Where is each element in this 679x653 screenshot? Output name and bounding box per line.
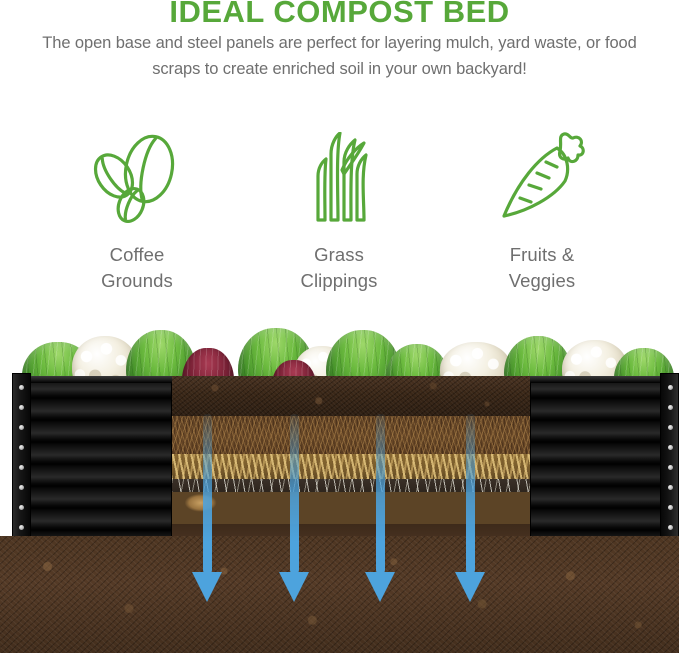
feature-coffee-grounds: Coffee Grounds [37, 128, 237, 294]
feature-label-line1: Fruits & [442, 242, 642, 268]
panel-top-edge [12, 376, 172, 383]
feature-label-line1: Grass [239, 242, 439, 268]
feature-icon-row: Coffee Grounds Grass Clippings [0, 128, 679, 303]
feature-label-fruits-veggies: Fruits & Veggies [442, 242, 642, 294]
arrow-head [192, 572, 222, 602]
arrow-head [279, 572, 309, 602]
grass-blades-icon [239, 128, 439, 228]
feature-grass-clippings: Grass Clippings [239, 128, 439, 294]
soil-layer-topsoil [172, 376, 530, 416]
feature-label-grass-clippings: Grass Clippings [239, 242, 439, 294]
screw-icon [668, 445, 673, 450]
arrow-head [455, 572, 485, 602]
screw-icon [668, 425, 673, 430]
arrow-shaft [466, 414, 475, 574]
arrow-shaft [376, 414, 385, 574]
corner-post-right [660, 373, 679, 541]
page-subtitle: The open base and steel panels are perfe… [38, 31, 641, 82]
screw-icon [19, 505, 24, 510]
right-steel-panel [530, 376, 679, 538]
compost-bed-infographic: IDEAL COMPOST BED The open base and stee… [0, 0, 679, 653]
screw-icon [19, 465, 24, 470]
screw-icon [19, 405, 24, 410]
product-photo-scene [0, 318, 679, 653]
screw-icon [668, 525, 673, 530]
screw-icon [668, 385, 673, 390]
feature-label-coffee-grounds: Coffee Grounds [37, 242, 237, 294]
screw-icon [19, 485, 24, 490]
soil-cross-section [172, 376, 530, 538]
screw-icon [668, 505, 673, 510]
feature-label-line2: Clippings [239, 268, 439, 294]
feature-label-line1: Coffee [37, 242, 237, 268]
screw-icon [668, 465, 673, 470]
feature-label-line2: Veggies [442, 268, 642, 294]
header: IDEAL COMPOST BED The open base and stee… [0, 0, 679, 118]
ground-soil [0, 536, 679, 653]
screw-icon [19, 385, 24, 390]
arrow-shaft [290, 414, 299, 574]
feature-label-line2: Grounds [37, 268, 237, 294]
corner-post-left [12, 373, 31, 541]
page-title: IDEAL COMPOST BED [0, 0, 679, 31]
soil-layer-wood-logs [172, 492, 530, 528]
arrow-shaft [203, 414, 212, 574]
carrot-icon [442, 128, 642, 228]
screw-icon [19, 525, 24, 530]
screw-icon [668, 485, 673, 490]
screw-icon [19, 425, 24, 430]
left-steel-panel [12, 376, 172, 538]
feature-fruits-veggies: Fruits & Veggies [442, 128, 642, 294]
panel-top-edge [530, 376, 679, 383]
soil-layer-mulch-roots [172, 416, 530, 456]
arrow-head [365, 572, 395, 602]
screw-icon [19, 445, 24, 450]
coffee-beans-icon [37, 128, 237, 228]
screw-icon [668, 405, 673, 410]
